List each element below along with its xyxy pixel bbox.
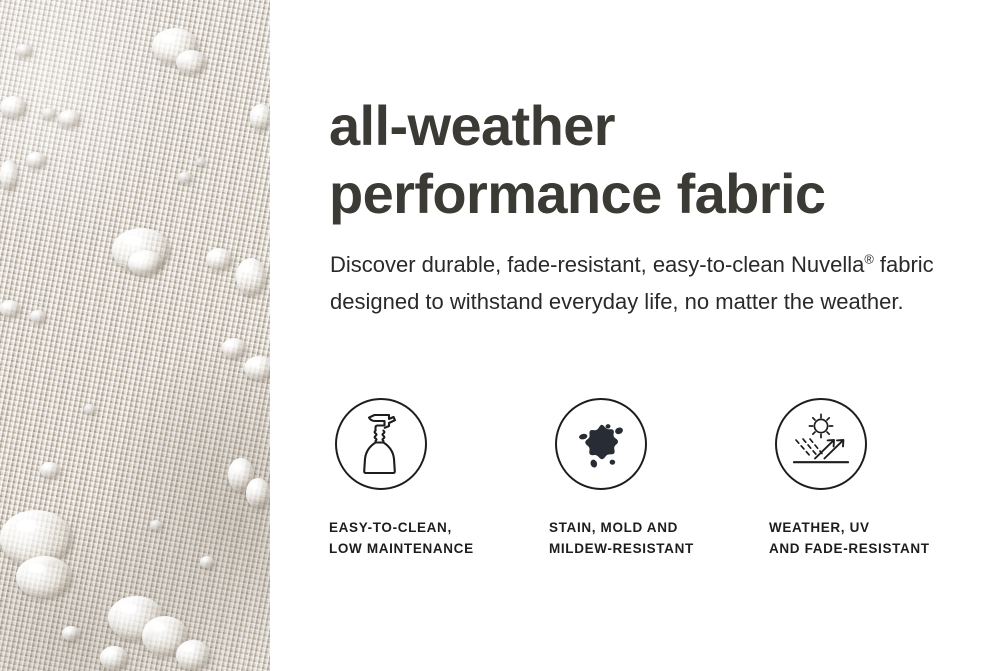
subcopy-text-part-1: Discover durable, fade-resistant, easy-t… [330, 252, 864, 277]
feature-label: WEATHER, UV AND FADE-RESISTANT [769, 517, 989, 559]
water-droplet [178, 172, 192, 183]
water-droplet [42, 108, 56, 119]
water-droplet [206, 248, 232, 270]
water-droplet [176, 640, 210, 670]
water-droplet [150, 520, 162, 530]
spray-bottle-icon [335, 398, 427, 490]
sun-uv-reflect-icon [775, 398, 867, 490]
water-droplet [222, 338, 246, 358]
feature-item-stain-resistant: STAIN, MOLD AND MILDEW-RESISTANT [549, 398, 769, 559]
water-droplet [244, 356, 270, 380]
content-column: all-weather performance fabric Discover … [329, 0, 989, 671]
subcopy-paragraph: Discover durable, fade-resistant, easy-t… [330, 246, 950, 320]
water-droplet [30, 310, 46, 323]
water-droplet [62, 626, 80, 641]
water-droplet [84, 404, 96, 414]
headline-line-1: all-weather [329, 92, 979, 160]
water-droplet [196, 158, 206, 166]
water-droplet [58, 110, 80, 127]
feature-label: STAIN, MOLD AND MILDEW-RESISTANT [549, 517, 769, 559]
water-droplet [236, 258, 266, 296]
page-title: all-weather performance fabric [329, 92, 979, 228]
water-droplet [250, 104, 270, 130]
water-droplet [200, 556, 214, 568]
feature-label: EASY-TO-CLEAN, LOW MAINTENANCE [329, 517, 549, 559]
water-droplet [176, 50, 206, 74]
headline-line-2: performance fabric [329, 160, 979, 228]
water-droplet [100, 646, 128, 670]
stain-splatter-icon [555, 398, 647, 490]
feature-item-weather-uv-resistant: WEATHER, UV AND FADE-RESISTANT [769, 398, 989, 559]
water-droplet [246, 478, 270, 508]
water-droplet [0, 160, 18, 190]
water-droplet [40, 462, 60, 478]
water-droplet [0, 96, 26, 118]
water-droplet [16, 556, 72, 598]
fabric-photo-panel [0, 0, 270, 671]
water-droplet [0, 300, 20, 317]
promo-banner: all-weather performance fabric Discover … [0, 0, 1005, 671]
water-droplet [128, 250, 162, 276]
water-droplet [16, 44, 32, 57]
water-droplet [26, 152, 46, 168]
feature-list: EASY-TO-CLEAN, LOW MAINTENANCE [329, 398, 989, 559]
feature-item-easy-to-clean: EASY-TO-CLEAN, LOW MAINTENANCE [329, 398, 549, 559]
registered-trademark-symbol: ® [864, 252, 873, 267]
